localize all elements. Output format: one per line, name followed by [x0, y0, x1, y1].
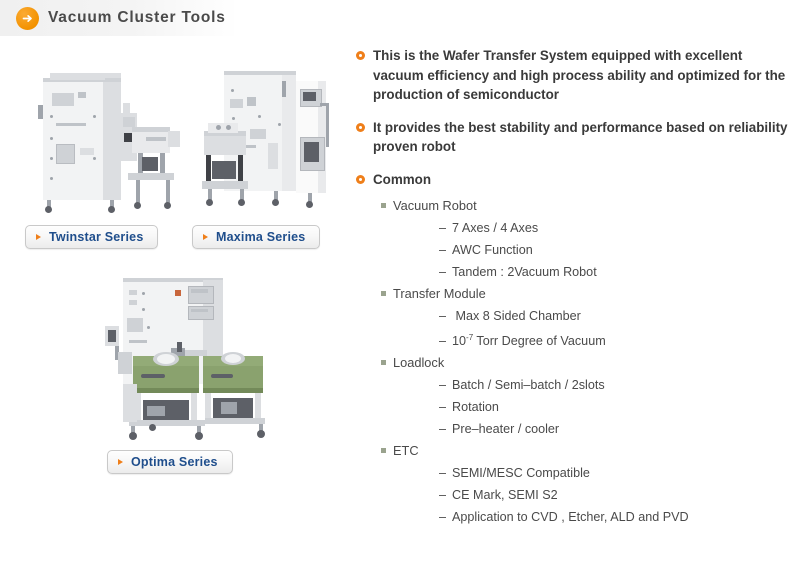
dash-marker: – — [439, 265, 446, 279]
twinstar-series-machine-photo — [20, 45, 190, 215]
bullet-text: Common — [373, 172, 431, 187]
ring-bullet-icon — [356, 51, 365, 60]
spec-text: Rotation — [452, 400, 499, 414]
arrow-right-circle-icon — [16, 7, 39, 30]
group-title: Vacuum Robot — [393, 198, 477, 213]
dash-marker: – — [439, 510, 446, 524]
spec-item: –CE Mark, SEMI S2 — [355, 484, 795, 506]
product-twinstar: Twinstar Series — [20, 45, 190, 225]
triangle-bullet-icon — [203, 234, 208, 240]
caption-label: Twinstar Series — [49, 230, 143, 244]
spec-item: –Pre–heater / cooler — [355, 418, 795, 440]
spec-text: Pre–heater / cooler — [452, 422, 559, 436]
square-bullet-icon — [381, 448, 386, 453]
group-title: Transfer Module — [393, 286, 486, 301]
caption-label: Optima Series — [131, 455, 218, 469]
spec-text: SEMI/MESC Compatible — [452, 466, 590, 480]
spec-item-vacuum-degree: –10-7 Torr Degree of Vacuum — [355, 327, 795, 352]
group-title-loadlock: Loadlock — [355, 352, 795, 374]
ring-bullet-icon — [356, 123, 365, 132]
spec-item: – Max 8 Sided Chamber — [355, 305, 795, 327]
dash-marker: – — [439, 378, 446, 392]
product-optima: Optima Series — [85, 268, 280, 458]
caption-maxima-series[interactable]: Maxima Series — [192, 225, 320, 249]
spec-item: –AWC Function — [355, 239, 795, 261]
spec-text: Tandem : 2Vacuum Robot — [452, 265, 597, 279]
ring-bullet-icon — [356, 175, 365, 184]
dash-marker: – — [439, 243, 446, 257]
spec-text: Application to CVD , Etcher, ALD and PVD — [452, 510, 689, 524]
dash-marker: – — [439, 400, 446, 414]
square-bullet-icon — [381, 291, 386, 296]
spec-text: Batch / Semi–batch / 2slots — [452, 378, 605, 392]
bullet-text: It provides the best stability and perfo… — [373, 120, 787, 155]
caption-twinstar-series[interactable]: Twinstar Series — [25, 225, 158, 249]
spec-item: –Rotation — [355, 396, 795, 418]
spec-text: CE Mark, SEMI S2 — [452, 488, 558, 502]
group-title: Loadlock — [393, 355, 444, 370]
description-panel: This is the Wafer Transfer System equipp… — [355, 46, 795, 528]
product-gallery: Twinstar Series — [0, 40, 350, 540]
header-content: Vacuum Cluster Tools — [16, 0, 226, 36]
page-header: Vacuum Cluster Tools — [0, 0, 800, 38]
product-maxima: Maxima Series — [190, 45, 350, 225]
spec-item: –Batch / Semi–batch / 2slots — [355, 374, 795, 396]
spec-item: –Tandem : 2Vacuum Robot — [355, 261, 795, 283]
bullet-wafer-transfer-system: This is the Wafer Transfer System equipp… — [355, 46, 795, 105]
square-bullet-icon — [381, 203, 386, 208]
caption-label: Maxima Series — [216, 230, 305, 244]
dash-marker: – — [439, 221, 446, 235]
group-title: ETC — [393, 443, 419, 458]
spec-item: –Application to CVD , Etcher, ALD and PV… — [355, 506, 795, 528]
page-title: Vacuum Cluster Tools — [48, 9, 226, 27]
bullet-common: Common — [355, 170, 795, 190]
spec-text: 7 Axes / 4 Axes — [452, 221, 538, 235]
triangle-bullet-icon — [36, 234, 41, 240]
spec-text: 10 — [452, 334, 466, 348]
bullet-stability-performance: It provides the best stability and perfo… — [355, 118, 795, 157]
group-title-etc: ETC — [355, 440, 795, 462]
group-title-vacuum-robot: Vacuum Robot — [355, 195, 795, 217]
spec-text-after: Torr Degree of Vacuum — [473, 334, 606, 348]
dash-marker: – — [439, 422, 446, 436]
caption-optima-series[interactable]: Optima Series — [107, 450, 233, 474]
group-title-transfer-module: Transfer Module — [355, 283, 795, 305]
maxima-series-machine-photo — [190, 45, 350, 215]
dash-marker: – — [439, 334, 446, 348]
dash-marker: – — [439, 466, 446, 480]
triangle-bullet-icon — [118, 459, 123, 465]
dash-marker: – — [439, 488, 446, 502]
spec-item: –SEMI/MESC Compatible — [355, 462, 795, 484]
dash-marker: – — [439, 309, 446, 323]
spec-text: Max 8 Sided Chamber — [452, 309, 581, 323]
bullet-text: This is the Wafer Transfer System equipp… — [373, 48, 785, 102]
spec-item: –7 Axes / 4 Axes — [355, 217, 795, 239]
spec-text: AWC Function — [452, 243, 533, 257]
square-bullet-icon — [381, 360, 386, 365]
optima-series-machine-photo — [85, 268, 280, 443]
